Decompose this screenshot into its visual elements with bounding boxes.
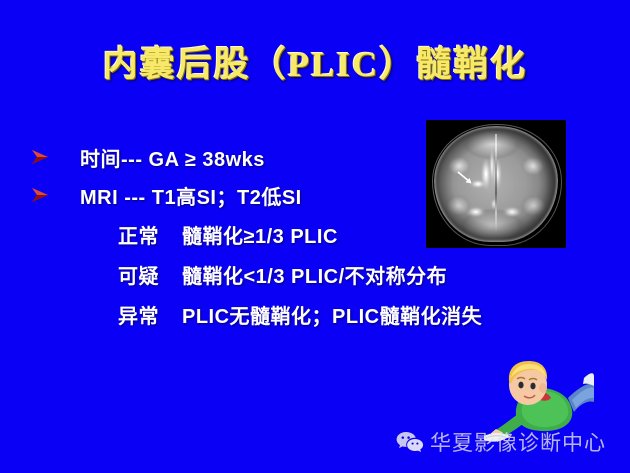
sub-value-normal: 髓鞘化≥1/3 PLIC [182,226,338,248]
page-title: 内囊后股（PLIC）髓鞘化 [0,36,630,87]
bullet-label-mri: MRI --- T1高SI；T2低SI [80,181,302,210]
sub-value-suspicious: 髓鞘化<1/3 PLIC/不对称分布 [182,266,447,288]
sub-row-suspicious: 可疑髓鞘化<1/3 PLIC/不对称分布 [0,254,630,294]
wechat-icon [396,430,424,454]
sub-label-abnormal: 异常 [118,300,182,329]
arrow-bullet-icon [30,149,50,165]
sub-label-suspicious: 可疑 [118,260,182,289]
sub-row-normal: 正常髓鞘化≥1/3 PLIC [0,214,630,254]
footer-watermark: 华夏影像诊断中心 [396,427,606,457]
footer-label: 华夏影像诊断中心 [430,427,606,457]
bullet-row-mri: MRI --- T1高SI；T2低SI [0,176,630,214]
sub-row-abnormal: 异常PLIC无髓鞘化；PLIC髓鞘化消失 [0,294,630,334]
bullet-label-time: 时间--- GA ≥ 38wks [80,143,265,172]
slide-canvas: 内囊后股（PLIC）髓鞘化 时间--- GA ≥ 38wks [0,0,630,473]
arrow-bullet-icon [30,187,50,203]
slide-body: 时间--- GA ≥ 38wks MRI --- T1高SI；T2低SI 正常髓… [0,138,630,334]
sub-value-abnormal: PLIC无髓鞘化；PLIC髓鞘化消失 [182,306,482,328]
sub-label-normal: 正常 [118,220,182,249]
bullet-row-time: 时间--- GA ≥ 38wks [0,138,630,176]
